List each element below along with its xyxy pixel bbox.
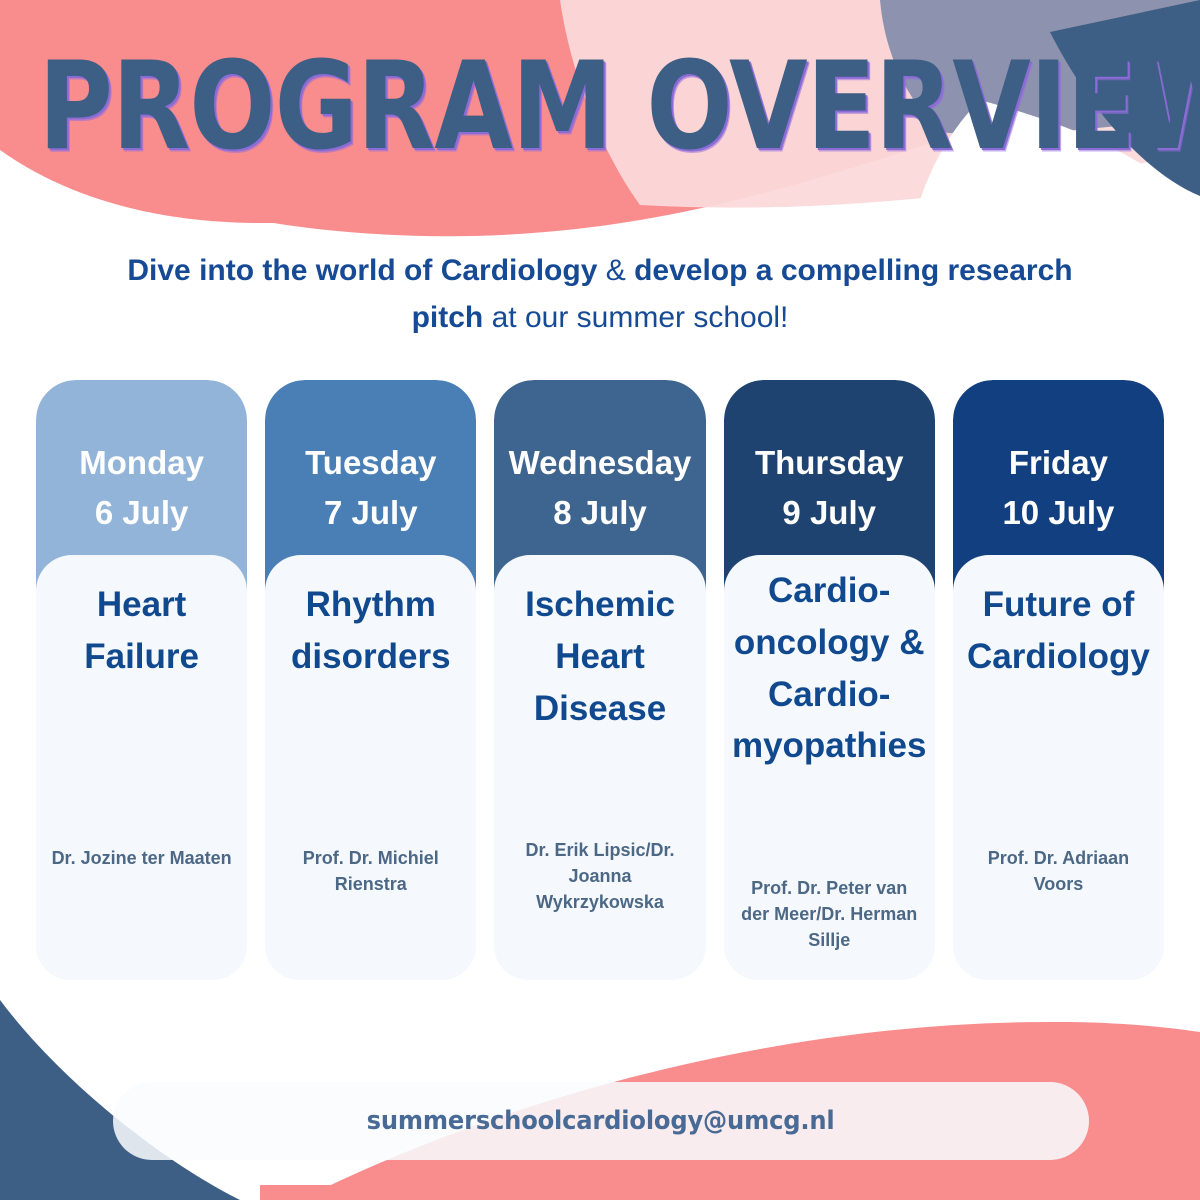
day-card-wednesday[interactable]: Wednesday 8 July Ischemic Heart Disease … <box>494 380 705 980</box>
day-card-topic: Rhythm disorders <box>273 579 468 683</box>
day-date: 7 July <box>271 488 470 538</box>
page-title-container: PROGRAM OVERVIEW <box>0 46 1200 156</box>
shape-salmon-bottom-band <box>260 1185 1200 1200</box>
day-card-header-text: Tuesday 7 July <box>265 438 476 538</box>
day-name: Monday <box>42 438 241 488</box>
subtitle-tail: at our summer school! <box>492 301 789 334</box>
contact-email[interactable]: summerschoolcardiology@umcg.nl <box>367 1106 835 1136</box>
subtitle: Dive into the world of Cardiology & deve… <box>100 248 1100 341</box>
day-card-speaker: Prof. Dr. Adriaan Voors <box>965 845 1152 897</box>
day-card-topic: Heart Failure <box>44 579 239 683</box>
day-card-speaker: Prof. Dr. Peter van der Meer/Dr. Herman … <box>736 875 923 953</box>
day-name: Tuesday <box>271 438 470 488</box>
day-card-header-text: Friday 10 July <box>953 438 1164 538</box>
day-name: Friday <box>959 438 1158 488</box>
subtitle-bold-part-1: Dive into the world of Cardiology <box>127 254 597 287</box>
day-card-speaker: Prof. Dr. Michiel Rienstra <box>277 845 464 897</box>
day-card-topic: Cardio-oncology & Cardio-myopathies <box>732 565 927 772</box>
day-card-list: Monday 6 July Heart Failure Dr. Jozine t… <box>36 380 1164 980</box>
day-card-body: Future of Cardiology Prof. Dr. Adriaan V… <box>953 555 1164 980</box>
day-card-tuesday[interactable]: Tuesday 7 July Rhythm disorders Prof. Dr… <box>265 380 476 980</box>
day-card-body: Cardio-oncology & Cardio-myopathies Prof… <box>724 555 935 980</box>
day-date: 9 July <box>730 488 929 538</box>
page-title: PROGRAM OVERVIEW <box>39 46 1200 169</box>
day-card-header-text: Wednesday 8 July <box>494 438 705 538</box>
day-card-speaker: Dr. Jozine ter Maaten <box>48 845 235 871</box>
day-name: Thursday <box>730 438 929 488</box>
day-date: 8 July <box>500 488 699 538</box>
program-overview-poster: PROGRAM OVERVIEW Dive into the world of … <box>0 0 1200 1200</box>
day-card-header-text: Monday 6 July <box>36 438 247 538</box>
day-card-monday[interactable]: Monday 6 July Heart Failure Dr. Jozine t… <box>36 380 247 980</box>
day-card-header-text: Thursday 9 July <box>724 438 935 538</box>
day-card-speaker: Dr. Erik Lipsic/Dr. Joanna Wykrzykowska <box>506 837 693 915</box>
day-card-topic: Future of Cardiology <box>961 579 1156 683</box>
day-card-body: Heart Failure Dr. Jozine ter Maaten <box>36 555 247 980</box>
day-date: 6 July <box>42 488 241 538</box>
day-date: 10 July <box>959 488 1158 538</box>
day-card-friday[interactable]: Friday 10 July Future of Cardiology Prof… <box>953 380 1164 980</box>
day-name: Wednesday <box>500 438 699 488</box>
day-card-body: Rhythm disorders Prof. Dr. Michiel Riens… <box>265 555 476 980</box>
day-card-body: Ischemic Heart Disease Dr. Erik Lipsic/D… <box>494 555 705 980</box>
day-card-topic: Ischemic Heart Disease <box>502 579 697 734</box>
contact-email-pill[interactable]: summerschoolcardiology@umcg.nl <box>113 1082 1089 1160</box>
day-card-thursday[interactable]: Thursday 9 July Cardio-oncology & Cardio… <box>724 380 935 980</box>
subtitle-ampersand: & <box>606 254 626 287</box>
